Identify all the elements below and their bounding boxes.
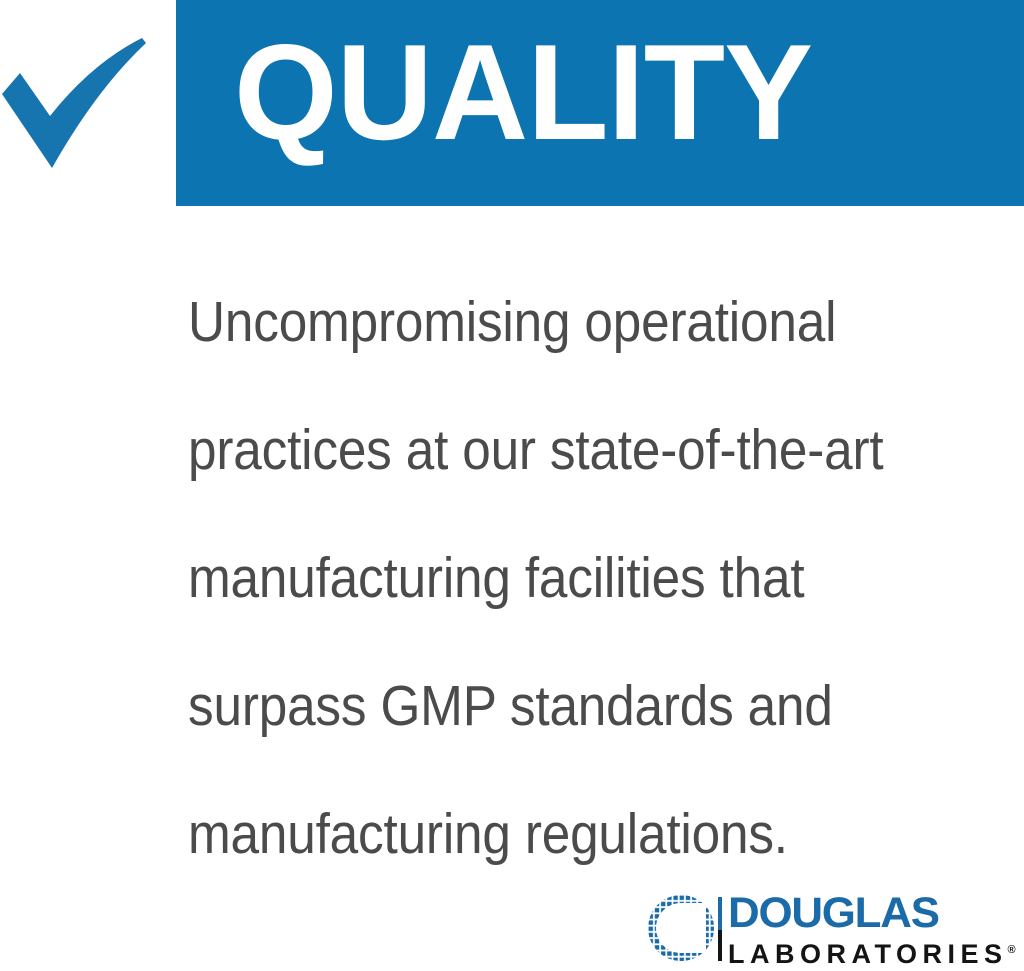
logo-divider-top — [718, 897, 722, 930]
logo-brand-name: DOUGLAS — [728, 893, 977, 933]
logo-subbrand-text: LABORATORIES — [728, 939, 1008, 969]
quality-callout-card: QUALITY Uncompromising operational pract… — [0, 0, 1024, 971]
body-line-1: Uncompromising operational — [188, 258, 908, 386]
registered-trademark-icon: ® — [1008, 944, 1016, 956]
douglas-laboratories-logo: DOUGLAS LABORATORIES® — [648, 893, 972, 965]
body-line-4: surpass GMP standards and — [188, 642, 908, 770]
header-band: QUALITY — [176, 0, 1024, 206]
logo-divider-bottom — [718, 930, 722, 961]
body-line-5: manufacturing regulations. — [188, 770, 908, 898]
douglas-grid-c-mark-icon — [648, 895, 714, 961]
page-title: QUALITY — [234, 24, 812, 160]
body-line-3: manufacturing facilities that — [188, 514, 908, 642]
logo-subbrand: LABORATORIES® — [728, 935, 972, 969]
logo-divider — [718, 897, 722, 961]
logo-wordmark: DOUGLAS LABORATORIES® — [728, 893, 972, 969]
body-line-2: practices at our state-of-the-art — [188, 386, 908, 514]
checkmark-icon — [0, 18, 160, 178]
body-copy: Uncompromising operational practices at … — [188, 258, 988, 898]
